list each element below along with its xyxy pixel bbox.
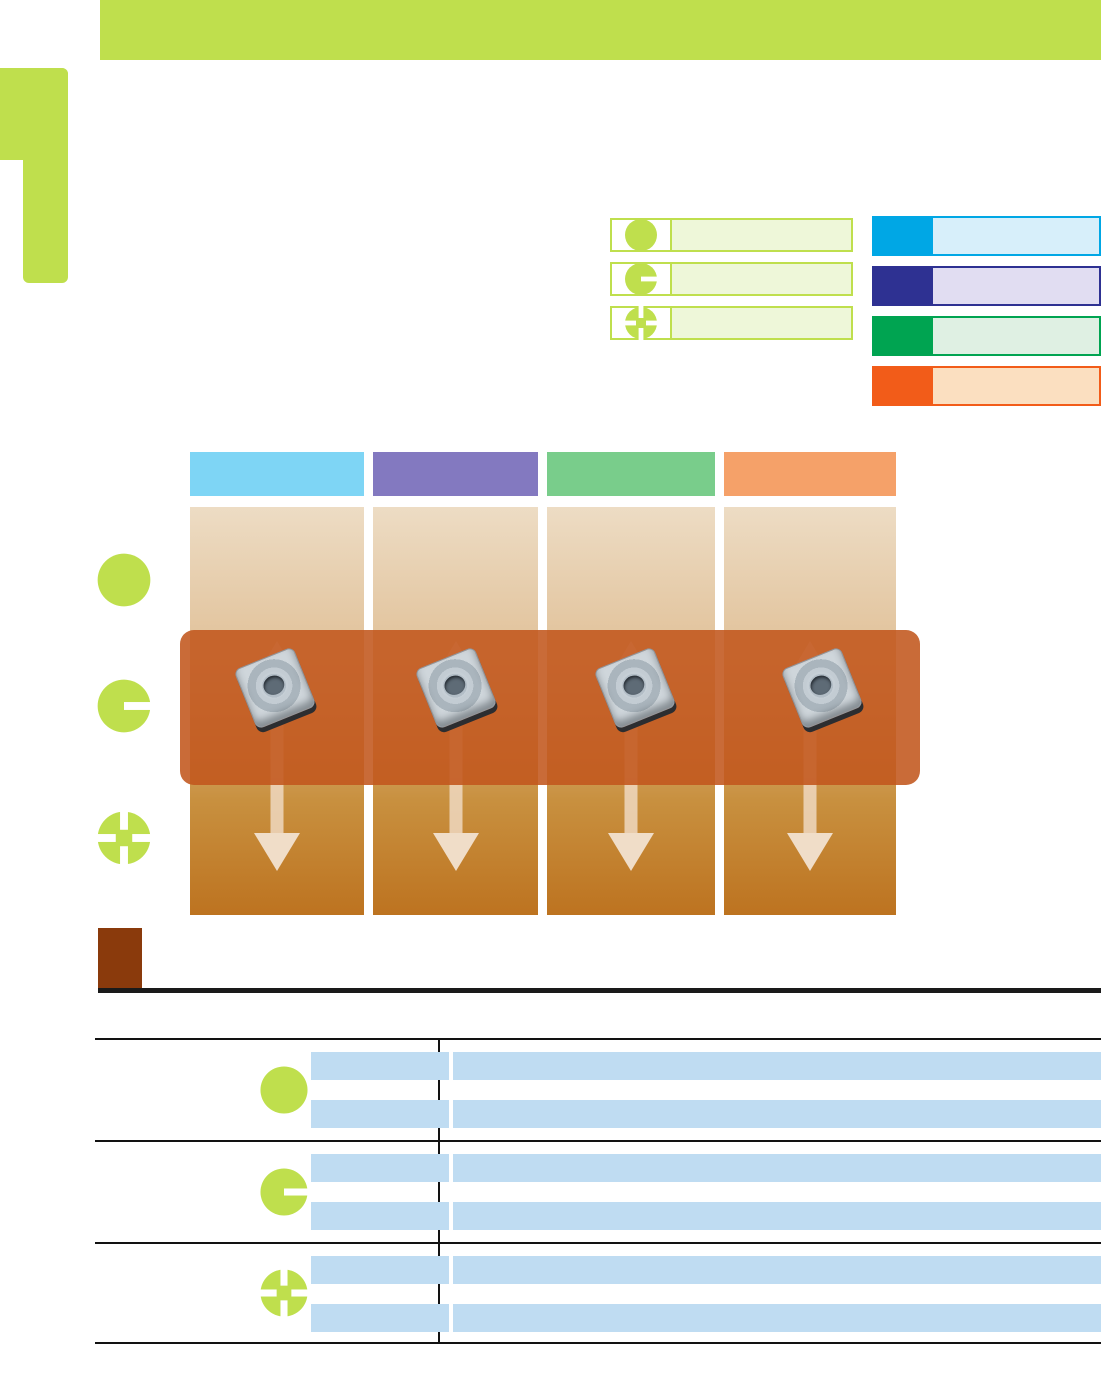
legend-color-label [933, 268, 1099, 304]
legend-green-item [610, 306, 853, 340]
table-row-bands [311, 1154, 1101, 1230]
full-circle-icon [612, 220, 672, 250]
table-band [311, 1052, 1101, 1080]
legend-colors [872, 216, 1101, 416]
legend-color-label [933, 218, 1099, 254]
full-circle-icon [255, 1061, 313, 1119]
table-row [95, 1140, 1101, 1242]
legend-green-item-label [672, 220, 851, 250]
matrix-column-header [190, 452, 364, 496]
legend-color-swatch [874, 268, 933, 304]
table-cell-wide [453, 1052, 1101, 1080]
section-marker [98, 928, 142, 988]
table-band [311, 1304, 1101, 1332]
legend-color-label [933, 368, 1099, 404]
table-band [311, 1100, 1101, 1128]
table-cell-wide [453, 1202, 1101, 1230]
document-page [0, 0, 1101, 1382]
table-cell-wide [453, 1154, 1101, 1182]
table-cell-narrow [311, 1256, 449, 1284]
matrix-row-icon-cross-cut-circle [96, 810, 152, 866]
legend-color-item [872, 316, 1101, 356]
legend-green-item [610, 262, 853, 296]
cross-cut-circle-icon [612, 308, 672, 338]
matrix-row-icon-full-circle [96, 552, 152, 608]
legend-color-swatch [874, 318, 933, 354]
legend-color-swatch [874, 218, 933, 254]
chapter-tab-stem [23, 68, 68, 283]
page-header-banner [100, 0, 1101, 60]
matrix-row-icon-pacman-circle [96, 678, 152, 734]
section-rule [98, 988, 1101, 993]
legend-green [610, 218, 853, 350]
table-row [95, 1242, 1101, 1344]
table-cell-narrow [311, 1100, 449, 1128]
table-row-bands [311, 1052, 1101, 1128]
table-cell-wide [453, 1100, 1101, 1128]
cross-cut-circle-icon [255, 1264, 313, 1322]
pacman-circle-icon [255, 1163, 313, 1221]
table-cell-narrow [311, 1202, 449, 1230]
table-cell-narrow [311, 1304, 449, 1332]
legend-color-label [933, 318, 1099, 354]
table-cell-narrow [311, 1052, 449, 1080]
legend-color-item [872, 216, 1101, 256]
legend-color-item [872, 266, 1101, 306]
legend-green-item [610, 218, 853, 252]
matrix-column-header [373, 452, 538, 496]
legend-green-item-label [672, 308, 851, 338]
pacman-circle-icon [612, 264, 672, 294]
table-band [311, 1202, 1101, 1230]
matrix-column-header [547, 452, 715, 496]
table-cell-wide [453, 1256, 1101, 1284]
table-band [311, 1154, 1101, 1182]
chapter-tab [0, 68, 68, 283]
matrix-column-headers [190, 452, 907, 496]
table-band [311, 1256, 1101, 1284]
table-cell-narrow [311, 1154, 449, 1182]
legend-color-swatch [874, 368, 933, 404]
table-cell-wide [453, 1304, 1101, 1332]
table-row-bands [311, 1256, 1101, 1332]
specification-table [95, 1038, 1101, 1344]
matrix-column-header [724, 452, 896, 496]
legend-green-item-label [672, 264, 851, 294]
legend-color-item [872, 366, 1101, 406]
table-row [95, 1038, 1101, 1140]
